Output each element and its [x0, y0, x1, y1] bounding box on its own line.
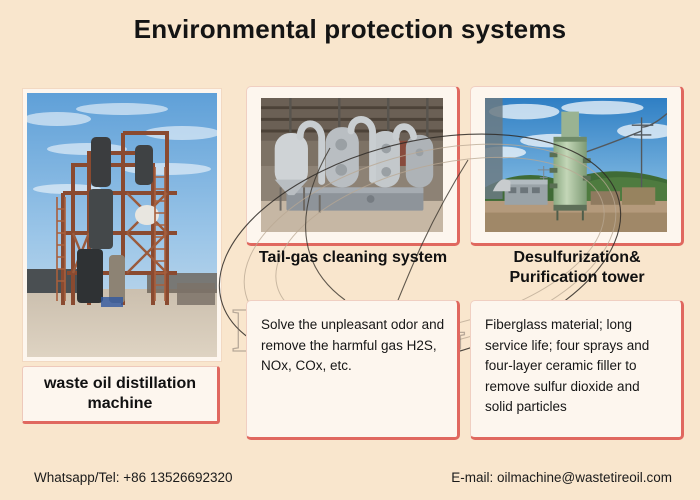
waste-oil-distillation-plant-photo [27, 93, 217, 357]
page-title: Environmental protection systems [0, 14, 700, 45]
tail-gas-cleaning-system-photo [261, 98, 443, 232]
footer-email: E-mail: oilmachine@wastetireoil.com [451, 470, 672, 485]
tail-gas-caption: Tail-gas cleaning system [246, 248, 460, 268]
desulfurization-description-text: Fiberglass material; long service life; … [485, 317, 649, 414]
left-photo-frame [22, 88, 222, 362]
desulfurization-photo-card [470, 86, 684, 246]
tail-gas-description-text: Solve the unpleasant odor and remove the… [261, 317, 444, 373]
left-photo-label: waste oil distillation machine [22, 366, 220, 424]
footer-phone: Whatsapp/Tel: +86 13526692320 [34, 470, 233, 485]
tail-gas-photo-card [246, 86, 460, 246]
desulfurization-caption: Desulfurization& Purification tower [470, 248, 684, 289]
slide-root: Environmental protection systems [0, 0, 700, 500]
desulfurization-purification-tower-photo [485, 98, 667, 232]
desulfurization-description-card: Fiberglass material; long service life; … [470, 300, 684, 440]
tail-gas-description-card: Solve the unpleasant odor and remove the… [246, 300, 460, 440]
